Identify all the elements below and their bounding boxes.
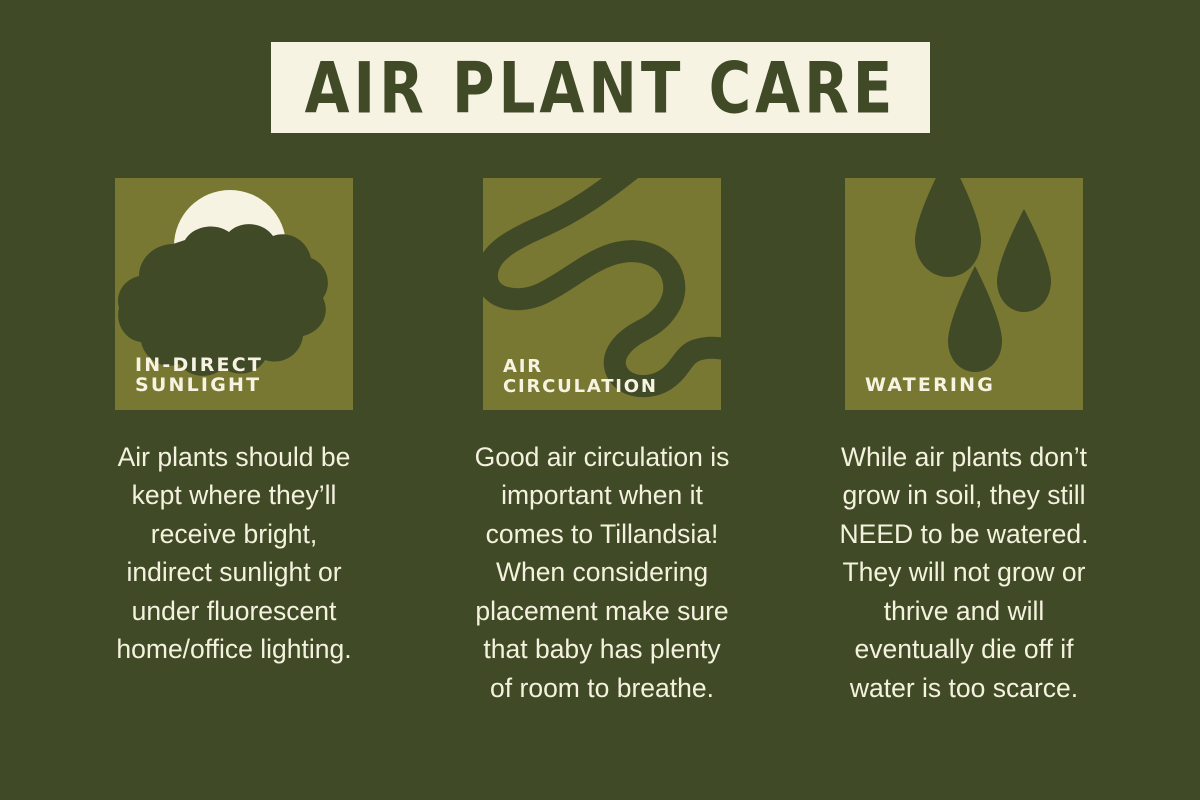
air-circulation-body-text: Good air circulation is important when i… xyxy=(474,438,730,707)
care-card-watering: WATERING While air plants don’t grow in … xyxy=(845,178,1083,707)
watering-icon-tile: WATERING xyxy=(845,178,1083,410)
care-columns: IN-DIRECT SUNLIGHT Air plants should be … xyxy=(0,178,1200,778)
watering-label: WATERING xyxy=(865,375,1073,396)
watering-body-text: While air plants don’t grow in soil, the… xyxy=(835,438,1093,707)
sunlight-body-text: Air plants should be kept where they’ll … xyxy=(110,438,358,669)
page-title: AIR PLANT CARE xyxy=(305,52,897,123)
sunlight-icon-tile: IN-DIRECT SUNLIGHT xyxy=(115,178,353,410)
air-circulation-icon-tile: AIR CIRCULATION xyxy=(483,178,721,410)
sunlight-label: IN-DIRECT SUNLIGHT xyxy=(135,355,343,396)
care-card-sunlight: IN-DIRECT SUNLIGHT Air plants should be … xyxy=(115,178,353,669)
title-banner: AIR PLANT CARE xyxy=(271,42,930,133)
air-circulation-label: AIR CIRCULATION xyxy=(503,357,711,396)
care-card-air-circulation: AIR CIRCULATION Good air circulation is … xyxy=(483,178,721,707)
